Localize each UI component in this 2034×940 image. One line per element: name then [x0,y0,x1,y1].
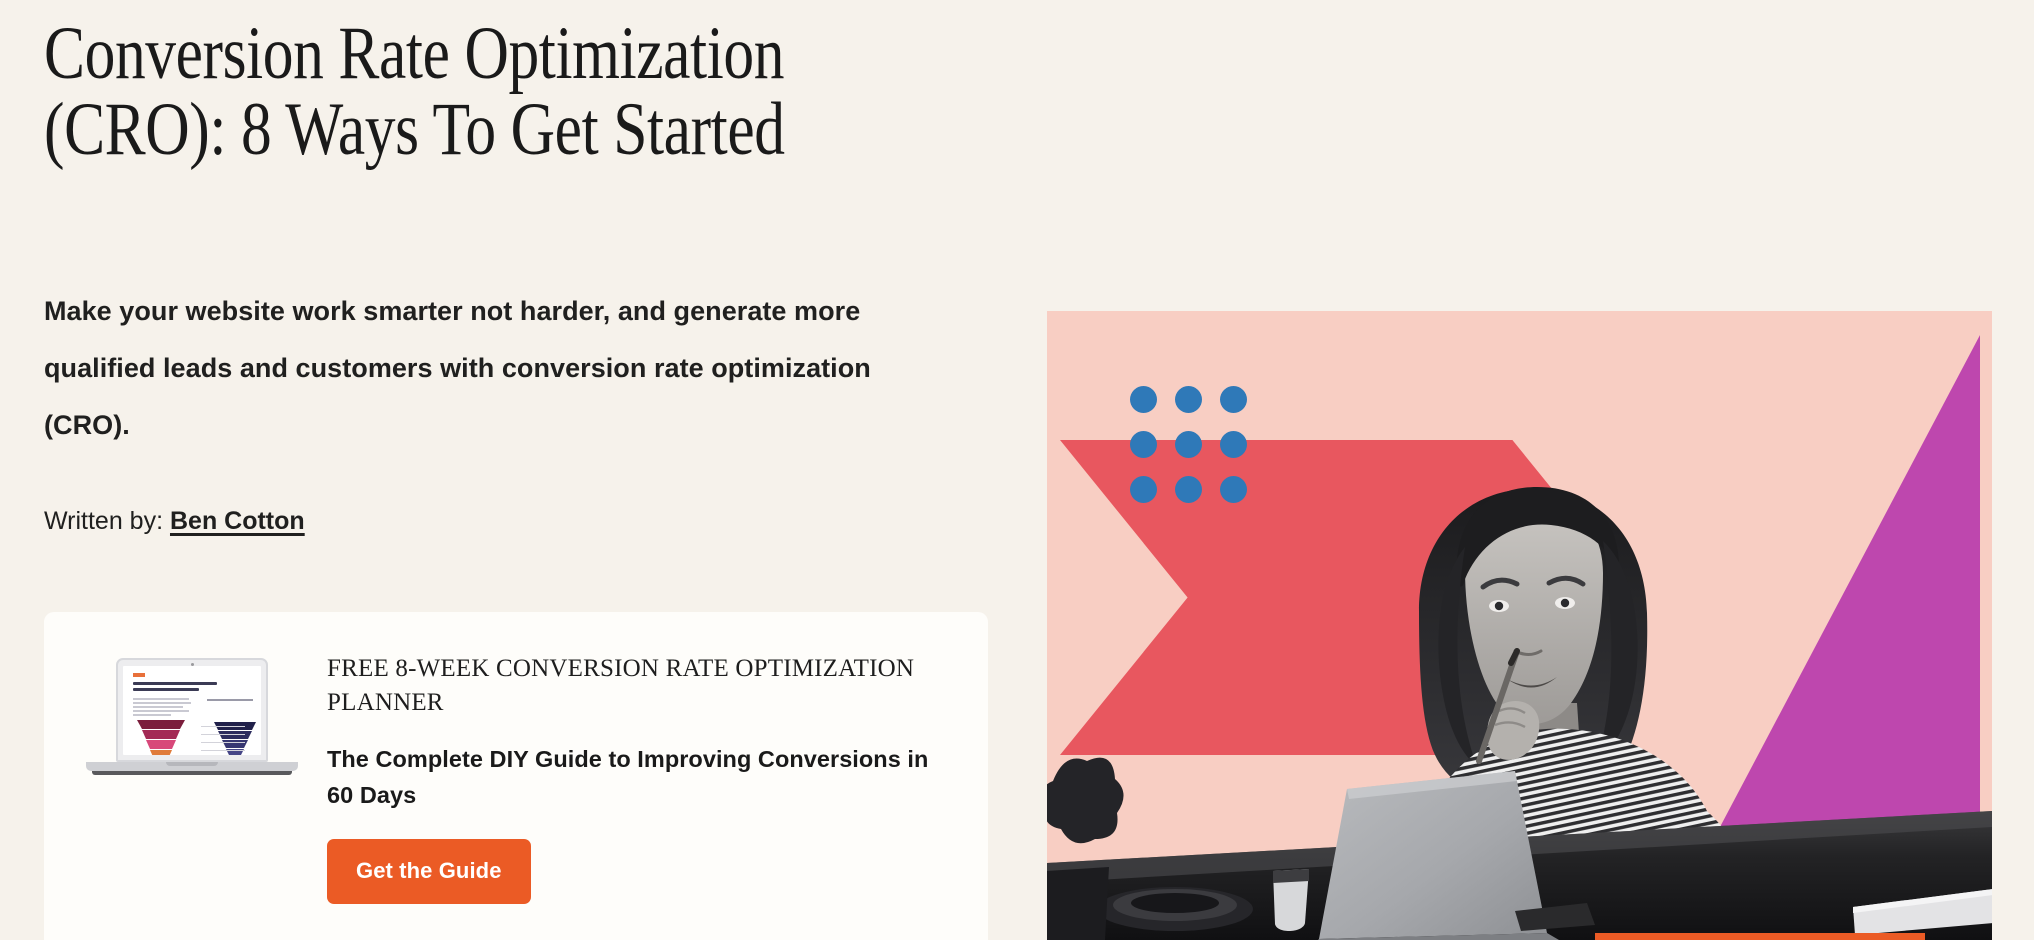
dot-icon [1130,476,1157,503]
dot-icon [1130,386,1157,413]
cta-headline: The Complete DIY Guide to Improving Conv… [327,741,957,813]
laptop-icon [116,658,268,762]
doc-text-line [133,714,171,716]
page-title: Conversion Rate Optimization (CRO): 8 Wa… [44,16,823,168]
dot-icon [1220,476,1247,503]
orange-accent-bar [1595,933,1925,940]
cta-content: FREE 8-WEEK CONVERSION RATE OPTIMIZATION… [327,652,957,904]
hero-graphic-layer [1047,311,1992,940]
doc-text-line [133,706,183,708]
dot-icon [1175,476,1202,503]
get-the-guide-button[interactable]: Get the Guide [327,839,531,904]
laptop-screen-preview [123,666,261,755]
magenta-triangle-shape [1665,335,1980,931]
hero-image [1047,311,1992,940]
dot-icon [1220,431,1247,458]
blue-dot-grid [1130,386,1247,503]
doc-text-line [133,710,189,712]
author-link[interactable]: Ben Cotton [170,507,305,535]
cta-thumbnail [72,652,312,802]
doc-heading-line [133,682,217,685]
doc-heading-line [133,688,199,691]
article-hero-page: Conversion Rate Optimization (CRO): 8 Wa… [0,0,2034,940]
byline: Written by: Ben Cotton [44,505,305,537]
dot-icon [1175,386,1202,413]
funnel-chart-warm-icon [131,720,191,755]
cta-card: FREE 8-WEEK CONVERSION RATE OPTIMIZATION… [44,612,988,940]
laptop-base [86,762,298,771]
doc-column-title [207,699,253,701]
doc-text-line [201,750,245,751]
byline-prefix: Written by: [44,507,163,535]
doc-logo-icon [133,673,145,677]
dot-icon [1220,386,1247,413]
laptop-foot [92,771,292,775]
dot-icon [1130,431,1157,458]
article-subtitle: Make your website work smarter not harde… [44,283,949,454]
doc-text-line [201,734,245,735]
cta-eyebrow: FREE 8-WEEK CONVERSION RATE OPTIMIZATION… [327,652,957,720]
dot-icon [1175,431,1202,458]
article-header-column: Conversion Rate Optimization (CRO): 8 Wa… [44,0,994,940]
doc-text-line [133,702,191,704]
doc-text-line [201,726,245,727]
doc-text-line [201,742,245,743]
doc-text-line [133,698,189,700]
